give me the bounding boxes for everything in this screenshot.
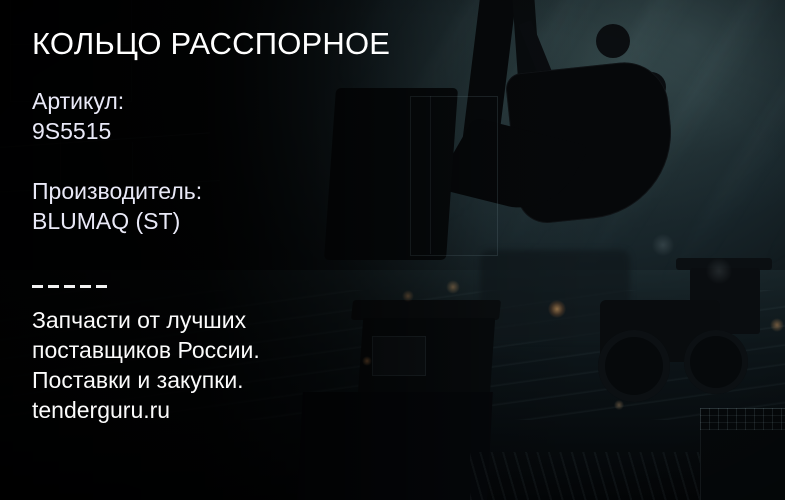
separator-dashes xyxy=(32,276,107,296)
article-label: Артикул: xyxy=(32,86,124,116)
manufacturer-block: Производитель: BLUMAQ (ST) xyxy=(32,176,202,236)
banner-content: КОЛЬЦО РАССПОРНОЕ Артикул: 9S5515 Произв… xyxy=(32,0,462,500)
manufacturer-value: BLUMAQ (ST) xyxy=(32,206,202,236)
promo-line-2: поставщиков России. xyxy=(32,335,260,365)
separator xyxy=(32,276,107,296)
promo-line-3: Поставки и закупки. xyxy=(32,365,260,395)
product-banner: КОЛЬЦО РАССПОРНОЕ Артикул: 9S5515 Произв… xyxy=(0,0,785,500)
manufacturer-label: Производитель: xyxy=(32,176,202,206)
promo-line-1: Запчасти от лучших xyxy=(32,305,260,335)
article-value: 9S5515 xyxy=(32,116,124,146)
article-block: Артикул: 9S5515 xyxy=(32,86,124,146)
promo-block: Запчасти от лучших поставщиков России. П… xyxy=(32,305,260,425)
promo-website: tenderguru.ru xyxy=(32,395,260,425)
product-title: КОЛЬЦО РАССПОРНОЕ xyxy=(32,26,390,62)
